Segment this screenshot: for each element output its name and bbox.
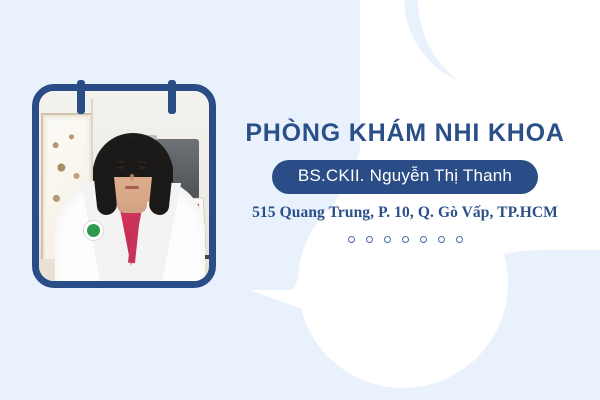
decorative-dot [348, 236, 355, 243]
clinic-banner: PHÒNG KHÁM NHI KHOA BS.CKII. Nguyễn Thị … [0, 0, 600, 400]
decorative-dot [402, 236, 409, 243]
doctor-name-badge: BS.CKII. Nguyễn Thị Thanh [272, 160, 538, 194]
banner-text-block: PHÒNG KHÁM NHI KHOA BS.CKII. Nguyễn Thị … [240, 120, 570, 243]
photo-eye-left [117, 166, 124, 169]
frame-tab-right-icon [168, 80, 176, 114]
decorative-dot [384, 236, 391, 243]
doctor-photo [39, 91, 209, 281]
decorative-dot [366, 236, 373, 243]
decorative-dot-row [240, 236, 570, 243]
frame-tab-left-icon [77, 80, 85, 114]
photo-nose [130, 174, 134, 181]
clinic-title: PHÒNG KHÁM NHI KHOA [240, 120, 570, 148]
decorative-dot [456, 236, 463, 243]
photo-coat-logo-icon [83, 220, 104, 241]
photo-eyebrow-right [138, 161, 147, 163]
photo-mouth [125, 186, 139, 189]
decorative-dot [420, 236, 427, 243]
clinic-address: 515 Quang Trung, P. 10, Q. Gò Vấp, TP.HC… [240, 204, 570, 222]
photo-eyebrow-left [116, 161, 125, 163]
photo-hair-top [103, 141, 162, 177]
photo-eye-right [139, 166, 146, 169]
decorative-dot [438, 236, 445, 243]
doctor-photo-frame [32, 84, 216, 288]
